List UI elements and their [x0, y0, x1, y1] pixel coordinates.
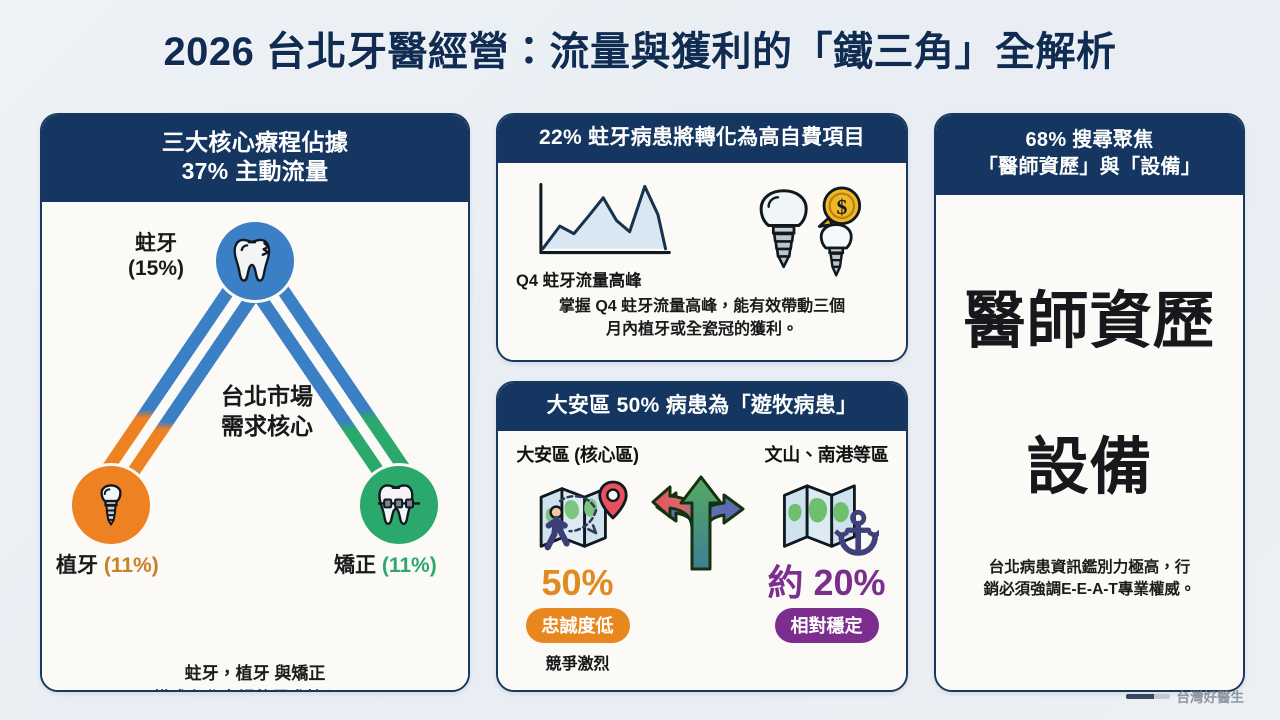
node-implant-name: 植牙	[56, 554, 98, 577]
q4-chart-caption: Q4 蛀牙流量高峰	[516, 267, 721, 291]
node-implant-label: 植牙 (11%)	[56, 554, 159, 579]
search-focus-note: 台北病患資訊鑑別力極高，行 銷必須強調E-E-A-T專業權威。	[978, 557, 1202, 602]
node-caries[interactable]	[216, 222, 294, 300]
iron-triangle-diagram: 蛀牙 (15%)	[42, 202, 468, 662]
triangle-center-line1: 台北市場	[66, 382, 468, 412]
search-focus-card: 68% 搜尋聚焦 「醫師資歷」與「設備」 醫師資歷 設備 台北病患資訊鑑別力極高…	[934, 113, 1245, 692]
triangle-center-line2: 需求核心	[66, 412, 468, 442]
conversion-card: 22% 蛀牙病患將轉化為高自費項目 Q4 蛀牙流量高峰	[496, 113, 908, 362]
search-focus-header-line2: 「醫師資歷」與「設備」	[942, 154, 1237, 181]
q4-chart-block: Q4 蛀牙流量高峰	[516, 177, 721, 291]
three-way-arrows-icon	[647, 441, 757, 571]
search-focus-header: 68% 搜尋聚焦 「醫師資歷」與「設備」	[936, 115, 1243, 195]
node-ortho-pct: (11%)	[382, 554, 437, 577]
dental-implant-money-icon: $	[748, 179, 870, 287]
braces-tooth-icon	[374, 480, 424, 530]
left-footer-note: 蛀牙，植牙 與矯正 構成台北市場的需求核心。	[42, 662, 468, 692]
search-focus-note-line2: 銷必須強調E-E-A-T專業權威。	[984, 579, 1196, 601]
core-treatments-header-line2: 37% 主動流量	[50, 157, 460, 186]
wenshan-nangang-block: 文山、南港等區	[757, 441, 896, 650]
implant-crown-money-icon-group: $	[727, 177, 890, 287]
core-treatments-card: 三大核心療程佔據 37% 主動流量	[40, 113, 470, 692]
keyword-equipment: 設備	[1026, 437, 1152, 499]
edge-implant-ortho	[141, 489, 371, 513]
left-footer-line1: 蛀牙，植牙 與矯正	[56, 662, 454, 687]
daan-district-block: 大安區 (核心區)	[508, 441, 647, 674]
node-ortho[interactable]	[360, 466, 438, 544]
conversion-note-line2: 月內植牙或全瓷冠的獲利。	[512, 318, 892, 341]
conversion-header: 22% 蛀牙病患將轉化為高自費項目	[498, 115, 906, 163]
node-caries-label: 蛀牙 (15%)	[128, 232, 184, 282]
nomadic-patients-card: 大安區 50% 病患為「遊牧病患」 大安區 (核心區)	[496, 381, 908, 692]
wenshan-percentage: 約 20%	[757, 565, 896, 601]
q4-traffic-line-chart	[516, 177, 681, 262]
node-caries-pct: (15%)	[128, 257, 184, 282]
daan-percentage: 50%	[508, 565, 647, 601]
daan-district-title: 大安區 (核心區)	[508, 441, 647, 467]
core-treatments-header: 三大核心療程佔據 37% 主動流量	[42, 115, 468, 202]
core-treatments-header-line1: 三大核心療程佔據	[50, 128, 460, 157]
node-implant-pct: (11%)	[104, 554, 159, 577]
map-walking-person-pin-icon	[508, 471, 647, 563]
nomadic-patients-body: 大安區 (核心區)	[498, 431, 906, 690]
daan-badge: 忠誠度低	[526, 608, 630, 643]
watermark-bar-icon	[1126, 694, 1170, 699]
right-column: 68% 搜尋聚焦 「醫師資歷」與「設備」 醫師資歷 設備 台北病患資訊鑑別力極高…	[934, 113, 1245, 692]
wenshan-nangang-title: 文山、南港等區	[757, 441, 896, 467]
middle-column: 22% 蛀牙病患將轉化為高自費項目 Q4 蛀牙流量高峰	[496, 113, 908, 692]
node-ortho-name: 矯正	[334, 554, 376, 577]
dental-implant-icon	[86, 480, 136, 530]
watermark-text: 台灣好醫生	[1177, 686, 1245, 706]
conversion-note: 掌握 Q4 蛀牙流量高峰，能有效帶動三個 月內植牙或全瓷冠的獲利。	[498, 291, 906, 341]
infographic-board: 三大核心療程佔據 37% 主動流量	[40, 113, 1245, 692]
node-caries-name: 蛀牙	[128, 232, 184, 257]
left-footer-line2: 構成台北市場的需求核心。	[56, 687, 454, 692]
watermark: 台灣好醫生	[1126, 686, 1245, 706]
core-treatments-body: 蛀牙 (15%)	[42, 202, 468, 692]
left-column: 三大核心療程佔據 37% 主動流量	[40, 113, 470, 692]
map-anchor-icon	[757, 471, 896, 563]
keyword-doctor-credentials: 醫師資歷	[963, 291, 1215, 353]
wenshan-badge: 相對穩定	[775, 608, 879, 643]
page-title: 2026 台北牙醫經營：流量與獲利的「鐵三角」全解析	[0, 0, 1280, 74]
svg-text:$: $	[836, 195, 847, 219]
search-focus-note-line1: 台北病患資訊鑑別力極高，行	[984, 557, 1196, 579]
node-implant[interactable]	[72, 466, 150, 544]
search-focus-body: 醫師資歷 設備 台北病患資訊鑑別力極高，行 銷必須強調E-E-A-T專業權威。	[936, 195, 1243, 690]
tooth-icon	[230, 236, 280, 286]
conversion-body: Q4 蛀牙流量高峰	[498, 163, 906, 360]
triangle-center-label: 台北市場 需求核心	[42, 382, 468, 442]
node-ortho-label: 矯正 (11%)	[334, 554, 437, 579]
conversion-note-line1: 掌握 Q4 蛀牙流量高峰，能有效帶動三個	[512, 295, 892, 318]
search-focus-header-line1: 68% 搜尋聚焦	[942, 127, 1237, 154]
daan-subtext: 競爭激烈	[508, 650, 647, 674]
nomadic-patients-header: 大安區 50% 病患為「遊牧病患」	[498, 383, 906, 431]
